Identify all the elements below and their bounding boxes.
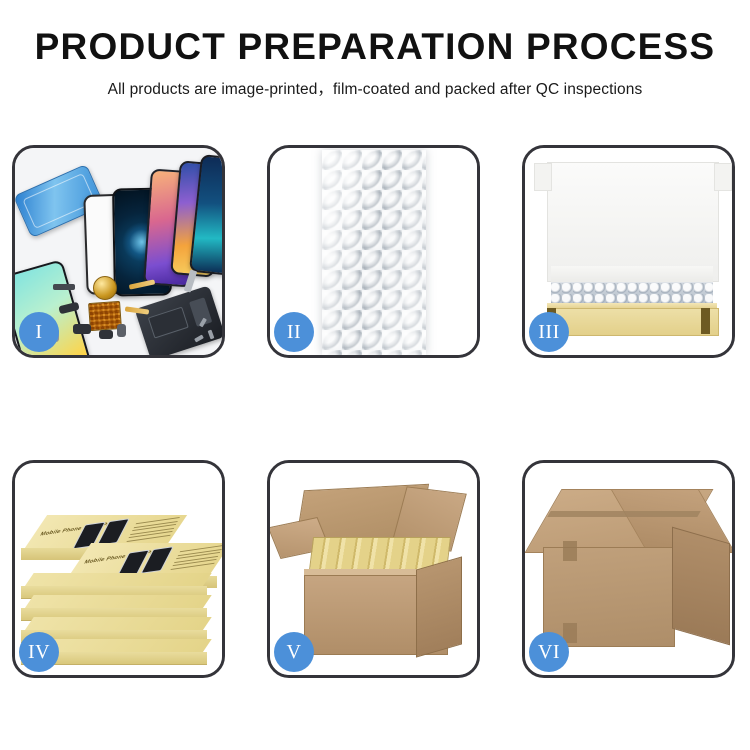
box-spec-lines xyxy=(169,545,222,573)
step-badge-1: I xyxy=(19,312,59,352)
battery-connector-icon xyxy=(99,330,113,339)
step-badge-4: IV xyxy=(19,632,59,672)
carton-side-panel xyxy=(672,527,730,646)
stacked-box-layer xyxy=(21,595,207,617)
step-card-6: VI xyxy=(522,460,735,678)
bubble-wrap-sheet-icon xyxy=(322,150,426,355)
step-card-3: III xyxy=(522,145,735,358)
plastic-sheen xyxy=(322,150,426,355)
box-top-face xyxy=(24,595,211,609)
wireless-coil-icon xyxy=(93,276,117,300)
box-top-face xyxy=(24,617,211,631)
step-card-4: Mobile Phone Spare Parts xyxy=(12,460,225,678)
step-badge-3: III xyxy=(529,312,569,352)
speaker-module-icon xyxy=(73,324,91,334)
step-card-1: I xyxy=(12,145,225,358)
mailer-right-edge xyxy=(701,308,710,334)
carton-tape-strip-top xyxy=(563,541,577,561)
step-card-2: II xyxy=(267,145,480,358)
step-badge-5: V xyxy=(274,632,314,672)
button-flex-icon xyxy=(117,324,126,337)
box-top-face xyxy=(24,573,211,587)
carton-top-seam xyxy=(547,511,700,517)
small-part-icon xyxy=(53,284,75,290)
box-spec-lines xyxy=(125,517,180,545)
stacked-box-layer xyxy=(21,573,207,595)
mailer-front-panel xyxy=(547,308,719,336)
mailer-lid-icon xyxy=(547,162,719,282)
header: PRODUCT PREPARATION PROCESS All products… xyxy=(0,0,750,99)
page-subtitle: All products are image-printed，film-coat… xyxy=(0,77,750,99)
infographic-page: PRODUCT PREPARATION PROCESS All products… xyxy=(0,0,750,750)
step-badge-6: VI xyxy=(529,632,569,672)
box-stack: Mobile Phone Spare Parts xyxy=(21,489,221,659)
step-card-5: V xyxy=(267,460,480,678)
page-title: PRODUCT PREPARATION PROCESS xyxy=(0,28,750,67)
step-badge-2: II xyxy=(274,312,314,352)
carton-side-panel xyxy=(416,556,462,657)
process-steps-grid: I II III xyxy=(12,145,738,678)
